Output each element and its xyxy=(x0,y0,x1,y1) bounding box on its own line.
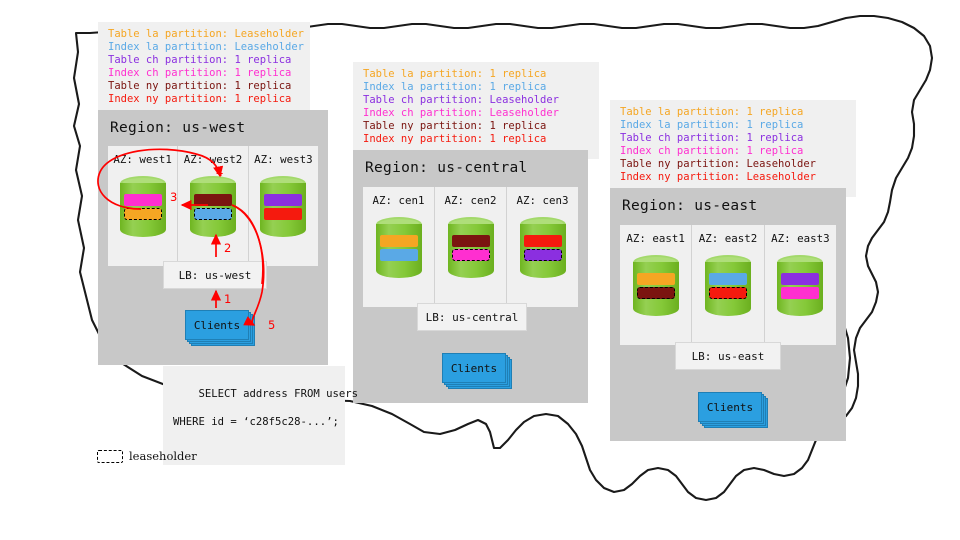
az-east3[interactable]: AZ: east3 xyxy=(765,225,836,345)
az-label: AZ: cen2 xyxy=(444,194,496,207)
partition-value: 1 replica xyxy=(746,119,803,131)
region-title: Region: us-east xyxy=(622,198,757,214)
partition-line: Table ch partition: 1 replica xyxy=(108,54,302,67)
partition-line: Table la partition: 1 replica xyxy=(620,106,848,119)
partition-line: Index ny partition: Leaseholder xyxy=(620,171,848,184)
partition-label: Table ch partition: xyxy=(620,132,740,144)
flow-step-number-1: 1 xyxy=(224,292,231,306)
replica-slots xyxy=(380,235,418,261)
partition-value: Leaseholder xyxy=(746,158,816,170)
replica-slot[interactable] xyxy=(124,194,162,206)
partition-label: Index ny partition: xyxy=(108,93,228,105)
replica-slot[interactable] xyxy=(380,249,418,261)
replica-slots xyxy=(264,194,302,220)
az-cen1[interactable]: AZ: cen1 xyxy=(363,187,435,307)
az-label: AZ: west1 xyxy=(113,153,172,166)
node-cylinder[interactable] xyxy=(190,176,236,244)
leaseholder-legend-label: leaseholder xyxy=(129,449,197,463)
partition-line: Table ch partition: 1 replica xyxy=(620,132,848,145)
partition-value: 1 replica xyxy=(746,132,803,144)
replica-slot-leaseholder[interactable] xyxy=(524,249,562,261)
flow-step-number-4: 4 xyxy=(216,165,223,179)
replica-slot[interactable] xyxy=(264,194,302,206)
az-container: AZ: west1 AZ: west2 xyxy=(108,146,318,266)
partition-label: Index ch partition: xyxy=(620,145,740,157)
partition-value: 1 replica xyxy=(234,54,291,66)
partition-label: Table ny partition: xyxy=(363,120,483,132)
replica-slot[interactable] xyxy=(452,235,490,247)
partition-value: 1 replica xyxy=(489,120,546,132)
node-cylinder[interactable] xyxy=(376,217,422,285)
az-cen2[interactable]: AZ: cen2 xyxy=(435,187,507,307)
clients-label[interactable]: Clients xyxy=(698,392,762,422)
az-label: AZ: cen3 xyxy=(516,194,568,207)
replica-slot[interactable] xyxy=(380,235,418,247)
flow-step-number-5: 5 xyxy=(268,318,275,332)
partition-label: Table ny partition: xyxy=(620,158,740,170)
az-container: AZ: east1 AZ: east2 xyxy=(620,225,836,345)
az-container: AZ: cen1 AZ: cen2 xyxy=(363,187,578,307)
partition-line: Table ch partition: Leaseholder xyxy=(363,94,591,107)
flow-step-number-2: 2 xyxy=(224,241,231,255)
clients-us-west[interactable]: Clients xyxy=(185,310,247,338)
replica-slot-leaseholder[interactable] xyxy=(124,208,162,220)
partition-label: Table ch partition: xyxy=(363,94,483,106)
replica-slot-leaseholder[interactable] xyxy=(637,287,675,299)
replica-slots xyxy=(194,194,232,220)
az-label: AZ: east1 xyxy=(626,232,685,245)
partition-label: Table ny partition: xyxy=(108,80,228,92)
partition-info-us-central: Table la partition: 1 replica Index la p… xyxy=(353,62,599,159)
node-cylinder[interactable] xyxy=(120,176,166,244)
partition-line: Table ny partition: 1 replica xyxy=(363,120,591,133)
partition-line: Index ch partition: 1 replica xyxy=(620,145,848,158)
partition-value: Leaseholder xyxy=(489,107,559,119)
sql-line-2: WHERE id = ‘c28f5c28-...’; xyxy=(173,415,335,429)
node-cylinder[interactable] xyxy=(520,217,566,285)
replica-slot[interactable] xyxy=(194,194,232,206)
replica-slot[interactable] xyxy=(264,208,302,220)
partition-value: 1 replica xyxy=(746,145,803,157)
clients-us-central[interactable]: Clients xyxy=(442,353,504,381)
partition-label: Index la partition: xyxy=(620,119,740,131)
az-east1[interactable]: AZ: east1 xyxy=(620,225,692,345)
replica-slot[interactable] xyxy=(637,273,675,285)
partition-value: Leaseholder xyxy=(234,28,304,40)
az-west2[interactable]: AZ: west2 xyxy=(178,146,248,266)
replica-slots xyxy=(452,235,490,261)
replica-slot[interactable] xyxy=(781,273,819,285)
partition-label: Index ny partition: xyxy=(620,171,740,183)
clients-label[interactable]: Clients xyxy=(442,353,506,383)
sql-line-1: SELECT address FROM users xyxy=(199,388,358,400)
replica-slots xyxy=(124,194,162,220)
az-cen3[interactable]: AZ: cen3 xyxy=(507,187,578,307)
node-cylinder[interactable] xyxy=(633,255,679,323)
partition-value: Leaseholder xyxy=(746,171,816,183)
replica-slot[interactable] xyxy=(524,235,562,247)
az-label: AZ: east3 xyxy=(771,232,830,245)
partition-value: 1 replica xyxy=(234,93,291,105)
partition-label: Index ch partition: xyxy=(108,67,228,79)
partition-label: Table la partition: xyxy=(363,68,483,80)
node-cylinder[interactable] xyxy=(705,255,751,323)
partition-label: Index la partition: xyxy=(363,81,483,93)
az-west1[interactable]: AZ: west1 xyxy=(108,146,178,266)
load-balancer-us-central[interactable]: LB: us-central xyxy=(417,303,527,331)
replica-slots xyxy=(781,273,819,299)
partition-label: Index ch partition: xyxy=(363,107,483,119)
load-balancer-us-west[interactable]: LB: us-west xyxy=(163,261,267,289)
partition-line: Index la partition: Leaseholder xyxy=(108,41,302,54)
replica-slot[interactable] xyxy=(781,287,819,299)
diagram-canvas: Table la partition: Leaseholder Index la… xyxy=(0,0,960,540)
partition-line: Index ny partition: 1 replica xyxy=(363,133,591,146)
partition-line: Index ch partition: Leaseholder xyxy=(363,107,591,120)
partition-value: 1 replica xyxy=(489,133,546,145)
partition-label: Table ch partition: xyxy=(108,54,228,66)
partition-label: Table la partition: xyxy=(108,28,228,40)
clients-label[interactable]: Clients xyxy=(185,310,249,340)
partition-line: Table la partition: Leaseholder xyxy=(108,28,302,41)
node-cylinder[interactable] xyxy=(448,217,494,285)
partition-label: Index la partition: xyxy=(108,41,228,53)
az-label: AZ: cen1 xyxy=(372,194,424,207)
partition-label: Index ny partition: xyxy=(363,133,483,145)
az-east2[interactable]: AZ: east2 xyxy=(692,225,764,345)
load-balancer-us-east[interactable]: LB: us-east xyxy=(675,342,781,370)
region-title: Region: us-west xyxy=(110,120,245,136)
partition-line: Index la partition: 1 replica xyxy=(620,119,848,132)
az-label: AZ: west2 xyxy=(184,153,243,166)
node-cylinder[interactable] xyxy=(260,176,306,244)
partition-value: 1 replica xyxy=(489,68,546,80)
replica-slots xyxy=(524,235,562,261)
replica-slot-leaseholder[interactable] xyxy=(194,208,232,220)
partition-value: 1 replica xyxy=(489,81,546,93)
partition-line: Table ny partition: Leaseholder xyxy=(620,158,848,171)
partition-value: 1 replica xyxy=(234,67,291,79)
replica-slots xyxy=(637,273,675,299)
az-west3[interactable]: AZ: west3 xyxy=(249,146,318,266)
partition-line: Index la partition: 1 replica xyxy=(363,81,591,94)
replica-slots xyxy=(709,273,747,299)
dashed-rectangle-icon xyxy=(97,450,123,463)
partition-line: Table la partition: 1 replica xyxy=(363,68,591,81)
replica-slot-leaseholder[interactable] xyxy=(452,249,490,261)
partition-label: Table la partition: xyxy=(620,106,740,118)
partition-value: 1 replica xyxy=(234,80,291,92)
node-cylinder[interactable] xyxy=(777,255,823,323)
replica-slot[interactable] xyxy=(709,273,747,285)
region-title: Region: us-central xyxy=(365,160,528,176)
partition-value: 1 replica xyxy=(746,106,803,118)
clients-us-east[interactable]: Clients xyxy=(698,392,760,420)
leaseholder-legend: leaseholder xyxy=(97,449,197,463)
partition-value: Leaseholder xyxy=(489,94,559,106)
replica-slot-leaseholder[interactable] xyxy=(709,287,747,299)
partition-info-us-west: Table la partition: Leaseholder Index la… xyxy=(98,22,310,119)
partition-info-us-east: Table la partition: 1 replica Index la p… xyxy=(610,100,856,197)
partition-value: Leaseholder xyxy=(234,41,304,53)
partition-line: Index ny partition: 1 replica xyxy=(108,93,302,106)
partition-line: Table ny partition: 1 replica xyxy=(108,80,302,93)
az-label: AZ: west3 xyxy=(254,153,313,166)
partition-line: Index ch partition: 1 replica xyxy=(108,67,302,80)
flow-step-number-3: 3 xyxy=(170,190,177,204)
az-label: AZ: east2 xyxy=(699,232,758,245)
